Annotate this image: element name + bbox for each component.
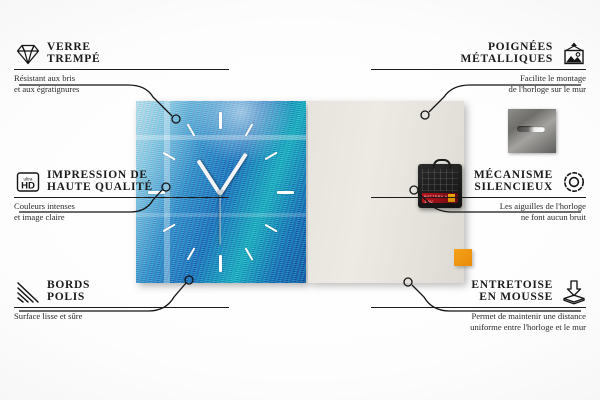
callout-description: Permet de maintenir une distance uniform… [371,311,586,332]
clock-tick-6 [219,255,222,272]
callout-title-line1: BORDS [47,279,90,291]
clock-tick-8 [163,223,176,232]
callout-rule [14,197,229,198]
callout-desc-line2: et aux égratignures [14,84,79,94]
gear-icon [560,168,586,194]
callout-desc-line1: Résistant aux bris [14,73,75,83]
callout-description: Surface lisse et sûre [14,311,229,322]
callout-description: Facilite le montage de l'horloge sur le … [371,73,586,94]
callout-header: MÉCANISME SILENCIEUX [371,168,586,194]
callout-title: VERRE TREMPÉ [47,41,100,66]
callout-title-line2: MÉTALLIQUES [461,53,553,65]
hanger-keyhole-slot [517,126,545,132]
clock-tick-7 [187,247,196,260]
callout-desc-line1: Couleurs intenses [14,201,75,211]
callout-verre-trempe: VERRE TREMPÉ Résistant aux bris et aux é… [14,40,229,95]
clock-tick-10 [163,151,176,160]
callout-rule [371,69,586,70]
mechanism-hook [433,159,451,168]
callout-title: BORDS POLIS [47,279,90,304]
infographic-canvas: BATTERY AA 1.5V [0,0,600,400]
clock-tick-12 [219,112,222,129]
callout-title-line2: EN MOUSSE [479,291,553,303]
callout-desc-line1: Surface lisse et sûre [14,311,83,321]
callout-title: ENTRETOISE EN MOUSSE [471,279,553,304]
callout-desc-line2: et image claire [14,212,65,222]
callout-title-line1: POIGNÉES [488,41,553,53]
callout-desc-line1: Facilite le montage [520,73,586,83]
clock-tick-2 [265,151,278,160]
callout-title-line1: IMPRESSION DE [47,169,148,181]
arrow-down-foam-icon [560,278,586,304]
clock-tick-5 [245,247,254,260]
callout-desc-line1: Permet de maintenir une distance [471,311,586,321]
callout-desc-line1: Les aiguilles de l'horloge [500,201,586,211]
callout-desc-line2: de l'horloge sur le mur [509,84,586,94]
callout-title-line2: TREMPÉ [47,53,100,65]
callout-desc-line2: ne font aucun bruit [521,212,586,222]
callout-title: POIGNÉES MÉTALLIQUES [461,41,553,66]
callout-header: BORDS POLIS [14,278,229,304]
callout-rule [371,197,586,198]
callout-title-line2: SILENCIEUX [474,181,553,193]
callout-header: ENTRETOISE EN MOUSSE [371,278,586,304]
callout-description: Couleurs intenses et image claire [14,201,229,222]
callout-entretoise-en-mousse: ENTRETOISE EN MOUSSE Permet de maintenir… [371,278,586,333]
callout-poignees-metalliques: POIGNÉES MÉTALLIQUES Facilite le montage… [371,40,586,95]
callout-title: MÉCANISME SILENCIEUX [474,169,553,194]
callout-header: ultra HD IMPRESSION DE HAUTE QUALITÉ [14,168,229,194]
callout-description: Résistant aux bris et aux égratignures [14,73,229,94]
callout-title-line1: ENTRETOISE [471,279,553,291]
clock-tick-3 [277,191,294,194]
callout-mecanisme-silencieux: MÉCANISME SILENCIEUX Les aiguilles de l'… [371,168,586,223]
callout-title: IMPRESSION DE HAUTE QUALITÉ [47,169,153,194]
callout-title-line2: POLIS [47,291,85,303]
callout-title-line2: HAUTE QUALITÉ [47,181,153,193]
foam-spacer-pad [454,249,472,266]
callout-title-line1: VERRE [47,41,91,53]
metal-hanger-plate [508,109,556,153]
polished-edges-icon [14,278,40,304]
callout-impression-haute-qualite: ultra HD IMPRESSION DE HAUTE QUALITÉ Cou… [14,168,229,223]
callout-bords-polis: BORDS POLIS Surface lisse et sûre [14,278,229,322]
ultra-hd-icon: ultra HD [14,168,40,194]
callout-title-line1: MÉCANISME [474,169,553,181]
callout-description: Les aiguilles de l'horloge ne font aucun… [371,201,586,222]
ultra-hd-icon-large-text: HD [21,181,35,192]
callout-rule [14,307,229,308]
callout-header: POIGNÉES MÉTALLIQUES [371,40,586,66]
clock-tick-1 [245,123,254,136]
callout-desc-line2: uniforme entre l'horloge et le mur [470,322,586,332]
callout-header: VERRE TREMPÉ [14,40,229,66]
framed-picture-hook-icon [560,40,586,66]
callout-rule [14,69,229,70]
clock-tick-11 [187,123,196,136]
diamond-icon [14,40,40,66]
callout-rule [371,307,586,308]
clock-tick-4 [265,223,278,232]
